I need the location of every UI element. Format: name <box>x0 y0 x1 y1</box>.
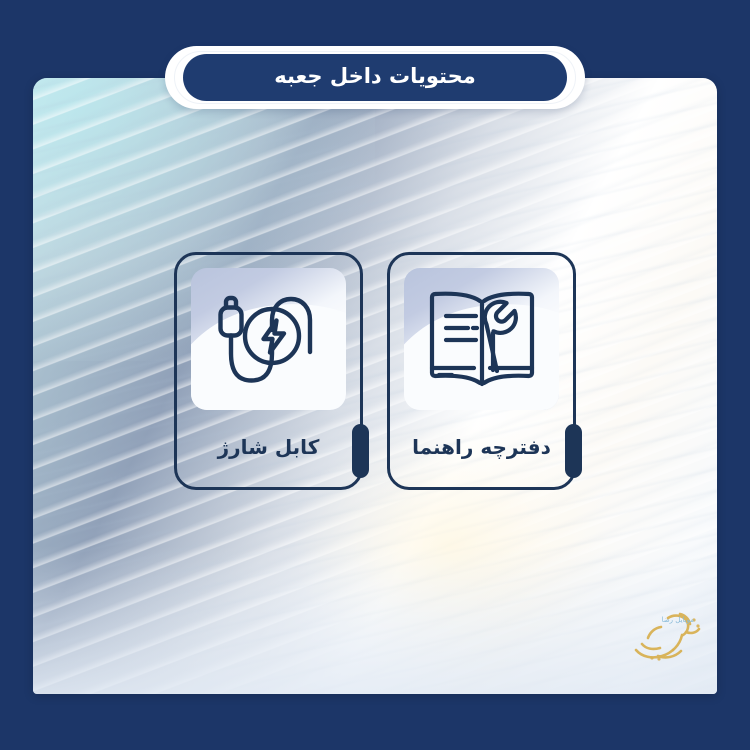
card-manual-booklet[interactable]: دفترچه راهنما <box>387 252 576 490</box>
page-title-outer-pill: محتویات داخل جعبه <box>165 46 585 109</box>
manual-booklet-icon-plate <box>404 268 559 410</box>
panel-bottom-tint <box>33 546 717 694</box>
page-title: محتویات داخل جعبه <box>225 63 525 89</box>
charging-cable-icon <box>207 283 331 395</box>
card-label-charging-cable: کابل شارژ <box>177 435 360 459</box>
card-label-manual-booklet: دفترچه راهنما <box>390 435 573 459</box>
page-title-container: محتویات داخل جعبه <box>165 46 585 109</box>
screenshot-stage: محتویات داخل جعبه <box>0 0 750 750</box>
manual-book-wrench-icon <box>419 285 545 393</box>
charging-cable-icon-plate <box>191 268 346 410</box>
page-title-pill: محتویات داخل جعبه <box>183 54 567 101</box>
card-charging-cable[interactable]: کابل شارژ <box>174 252 363 490</box>
card-accent-bar <box>565 424 582 478</box>
card-accent-bar <box>352 424 369 478</box>
box-contents-card-row: کابل شارژ <box>0 252 750 490</box>
